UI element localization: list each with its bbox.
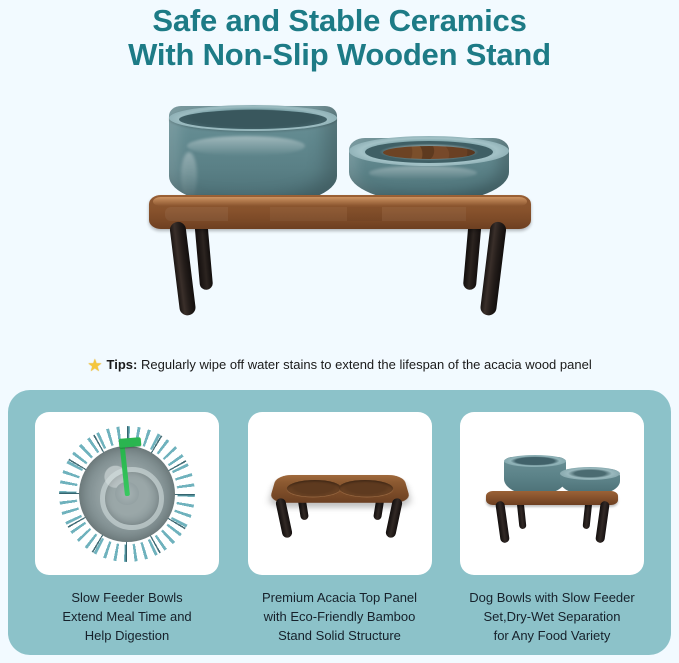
- mini-wood-panel: [486, 491, 618, 505]
- mini-water-bowl: [504, 457, 566, 495]
- feature-caption-slow-feeder: Slow Feeder Bowls Extend Meal Time and H…: [26, 588, 228, 650]
- feature-card-double-bowl-set: [460, 412, 644, 575]
- slow-feeder-highlight: [369, 166, 477, 180]
- feature-caption-double-bowl-set: Dog Bowls with Slow Feeder Set,Dry-Wet S…: [451, 588, 653, 650]
- caption-line: Premium Acacia Top Panel: [239, 588, 441, 607]
- caption-line: Stand Solid Structure: [239, 626, 441, 645]
- tips-label: Tips:: [107, 357, 138, 372]
- caption-line: Extend Meal Time and: [26, 607, 228, 626]
- caption-line: Set,Dry-Wet Separation: [451, 607, 653, 626]
- feature-caption-acacia-panel: Premium Acacia Top Panel with Eco-Friend…: [239, 588, 441, 650]
- double-bowl-stand-icon: [478, 439, 626, 549]
- feature-panel: Slow Feeder Bowls Extend Meal Time and H…: [8, 390, 671, 655]
- caption-line: Slow Feeder Bowls: [26, 588, 228, 607]
- water-bowl-highlight: [187, 136, 305, 156]
- product-illustration: [139, 96, 539, 346]
- water-bowl-interior: [179, 110, 327, 129]
- hero-product-image: [0, 96, 679, 346]
- wood-grain-texture: [165, 207, 515, 221]
- caption-line: Help Digestion: [26, 626, 228, 645]
- acacia-wood-panel: [149, 195, 531, 229]
- feature-card-acacia-panel: [248, 412, 432, 575]
- tips-note: ★Tips: Regularly wipe off water stains t…: [0, 355, 679, 376]
- feature-card-slow-feeder: [35, 412, 219, 575]
- stand-leg-front-left: [169, 221, 196, 316]
- slow-feeder-timer-icon: [59, 426, 195, 562]
- feature-caption-list: Slow Feeder Bowls Extend Meal Time and H…: [8, 588, 671, 650]
- bowl-recess-left: [285, 479, 341, 496]
- feature-card-list: [8, 412, 671, 575]
- caption-line: for Any Food Variety: [451, 626, 653, 645]
- mini-leg-front-left: [495, 500, 510, 543]
- slow-feeder-bowl: [349, 138, 509, 202]
- bowl-recess-right: [338, 479, 394, 496]
- stand-leg-front-right: [480, 221, 507, 316]
- wooden-stand-icon: [265, 446, 415, 542]
- clock-hand-flag: [119, 437, 142, 448]
- stand-icon-leg-front-left: [274, 497, 292, 538]
- stand-icon-leg-front-right: [384, 497, 402, 538]
- page-title-line-1: Safe and Stable Ceramics: [152, 3, 526, 38]
- caption-line: with Eco-Friendly Bamboo: [239, 607, 441, 626]
- kibble-food: [383, 146, 475, 159]
- mini-leg-front-right: [595, 500, 610, 543]
- page-title: Safe and Stable Ceramics With Non-Slip W…: [0, 0, 679, 72]
- caption-line: Dog Bowls with Slow Feeder: [451, 588, 653, 607]
- tips-text: Regularly wipe off water stains to exten…: [141, 357, 592, 372]
- star-icon: ★: [87, 356, 102, 375]
- water-bowl-side-highlight: [181, 152, 197, 200]
- page-title-line-2: With Non-Slip Wooden Stand: [0, 38, 679, 72]
- water-bowl: [169, 106, 337, 206]
- stand-icon-top-panel: [268, 474, 411, 502]
